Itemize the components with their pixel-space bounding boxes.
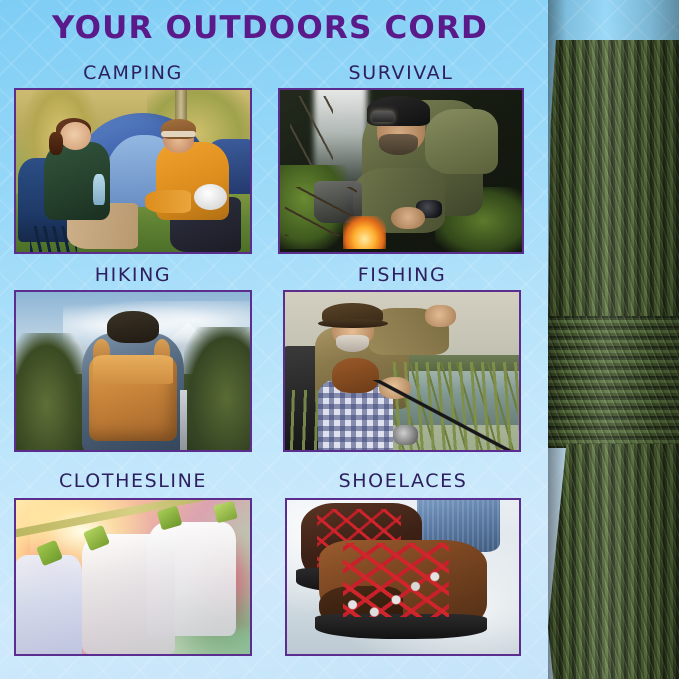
use-case-survival: SURVIVAL	[278, 62, 524, 254]
use-case-label-fishing: FISHING	[283, 264, 521, 286]
cord-coil-band	[548, 316, 679, 448]
use-case-label-survival: SURVIVAL	[278, 62, 524, 84]
use-case-camping: CAMPING	[14, 62, 252, 254]
photo-clothesline	[14, 498, 252, 656]
use-case-label-clothesline: CLOTHESLINE	[14, 470, 252, 492]
use-case-shoelaces: SHOELACES	[285, 470, 521, 656]
photo-fishing	[283, 290, 521, 452]
page-title: YOUR OUTDOORS CORD	[0, 10, 540, 46]
photo-shoelaces	[285, 498, 521, 656]
photo-survival	[278, 88, 524, 254]
use-case-label-hiking: HIKING	[14, 264, 252, 286]
use-case-fishing: FISHING	[283, 264, 521, 452]
use-case-label-shoelaces: SHOELACES	[285, 470, 521, 492]
product-infographic: YOUR OUTDOORS CORD CAMPING	[0, 0, 679, 679]
photo-camping	[14, 88, 252, 254]
paracord-hank	[548, 0, 679, 679]
cord-strands-top	[548, 40, 679, 322]
cord-strands-bottom	[548, 444, 679, 679]
use-case-hiking: HIKING	[14, 264, 252, 452]
use-case-label-camping: CAMPING	[14, 62, 252, 84]
photo-hiking	[14, 290, 252, 452]
use-case-clothesline: CLOTHESLINE	[14, 470, 252, 656]
